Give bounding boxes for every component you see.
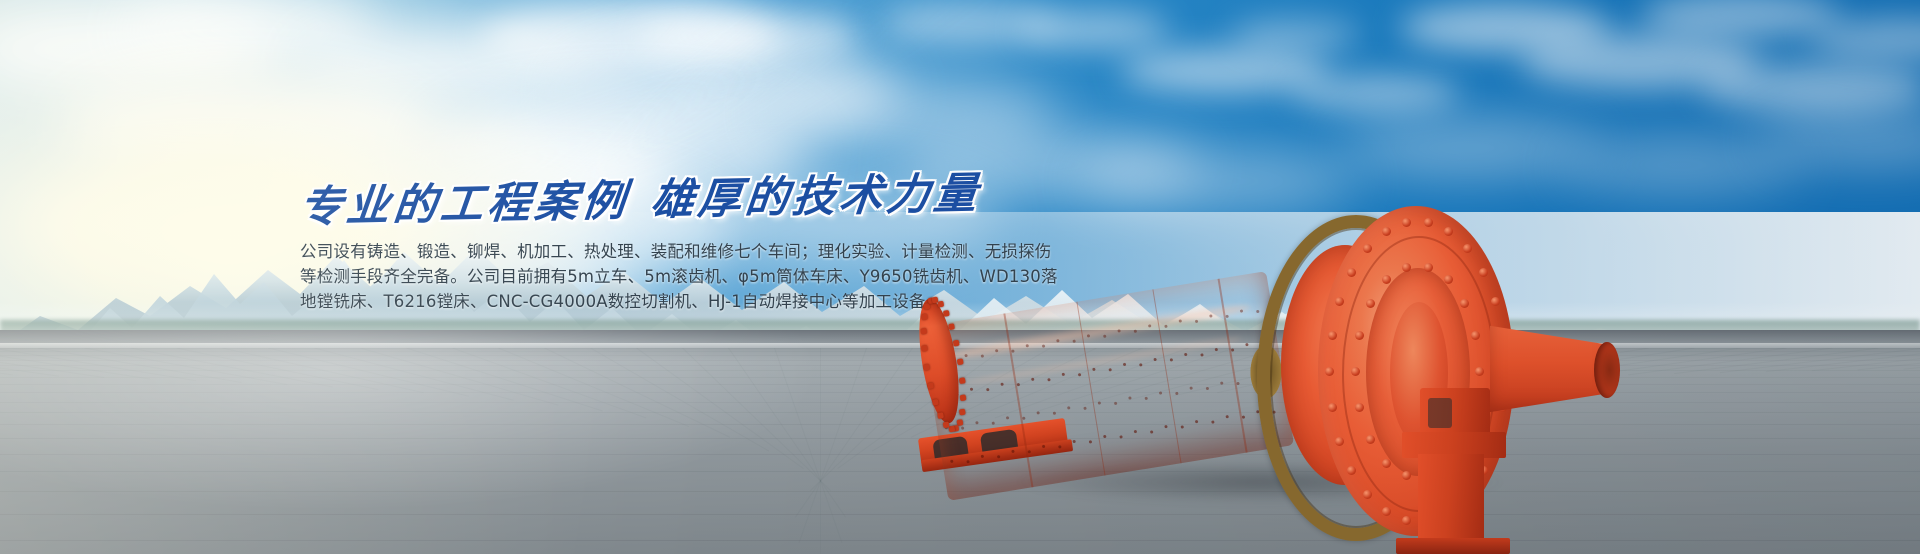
drum-rivet [1200, 353, 1204, 357]
drum-rivet [966, 460, 970, 464]
flange-bolt [932, 399, 939, 406]
drum-rivet [1128, 396, 1132, 400]
drum-rivet [1103, 435, 1107, 439]
drum-rivet [1153, 358, 1157, 362]
far-flange-bolts [907, 289, 973, 434]
flange-bolt [960, 394, 967, 401]
drum-rivet [996, 455, 1000, 459]
end-head-bolt-outer [1444, 227, 1453, 236]
tile-seam-vertical [820, 348, 821, 554]
drum-rivet [1134, 430, 1138, 434]
end-head-bolt-outer [1347, 268, 1356, 277]
flange-bolt [927, 382, 934, 389]
drum-rivet [1164, 425, 1168, 429]
drum-rivet [1052, 412, 1056, 416]
drum-rivet [1144, 397, 1148, 401]
drum-rivet [1083, 407, 1087, 411]
flange-bolt [943, 421, 950, 428]
drum-rivet [1194, 320, 1198, 324]
drum-rivet [950, 460, 954, 464]
drum-rivet [1011, 450, 1015, 454]
drum-rivet [1139, 363, 1143, 367]
tile-seam-vertical [590, 348, 769, 451]
drum-rivet [986, 388, 990, 392]
drum-rivet [1092, 368, 1096, 372]
drum-rivet [1088, 440, 1092, 444]
end-head-bolt-inner [1355, 403, 1364, 412]
drum-rivet [1058, 445, 1062, 449]
discharge-outlet [1594, 342, 1620, 398]
end-head-bolt-inner [1366, 435, 1375, 444]
drum-rivet [1123, 363, 1127, 367]
drum-rivets [920, 271, 1265, 327]
end-head-bolt-outer [1479, 268, 1488, 277]
drum-rivet [1195, 420, 1199, 424]
drum-rivet [1211, 420, 1215, 424]
drum-rivet [1006, 416, 1010, 420]
end-head-bolt-outer [1325, 367, 1334, 376]
drum-rivet [1215, 348, 1219, 352]
drum-rivet [1036, 411, 1040, 415]
end-head-bolt-inner [1475, 367, 1484, 376]
flange-bolt [923, 303, 930, 310]
end-head-bolt-inner [1471, 331, 1480, 340]
description-line-2: 等检测手段齐全完备。公司目前拥有5m立车、5m滚齿机、φ5m筒体车床、Y9650… [300, 264, 872, 289]
drum-rivet [1184, 353, 1188, 357]
cloud [1700, 62, 1920, 114]
end-head-bolt-inner [1366, 299, 1375, 308]
flange-bolt [923, 364, 930, 371]
drum-rivet [1189, 386, 1193, 390]
flange-bolt [959, 377, 966, 384]
flange-bolt [920, 328, 927, 335]
flange-bolt [953, 340, 960, 347]
flange-bolt [957, 358, 964, 365]
end-head-bolt-outer [1363, 244, 1372, 253]
drum-rivet [1000, 382, 1004, 386]
end-head-bolt-outer [1328, 403, 1337, 412]
drum-rivet [1047, 378, 1051, 382]
end-head-bolt-inner [1382, 459, 1391, 468]
drum-rivet [1113, 402, 1117, 406]
drum-rivet [1245, 343, 1249, 347]
drum-rivet [1062, 373, 1066, 377]
end-head-bolt-inner [1351, 367, 1360, 376]
end-head-bolt-outer [1424, 218, 1433, 227]
drum-rivet [1225, 415, 1229, 419]
end-head-bolt-outer [1335, 437, 1344, 446]
near-support-base [1392, 388, 1552, 554]
description-line-3: 地镗铣床、T6216镗床、CNC-CG4000A数控切割机、HJ-1自动焊接中心… [300, 289, 872, 314]
end-head-bolt-inner [1355, 331, 1364, 340]
end-head-bolt-outer [1328, 331, 1337, 340]
cloud [1230, 20, 1360, 50]
cloud [1290, 74, 1460, 112]
flange-bolt [948, 324, 955, 331]
end-head-bolt-inner [1402, 263, 1411, 272]
drum-rivet [981, 455, 985, 459]
end-head-bolt-inner [1424, 263, 1433, 272]
drum-rivet [1072, 440, 1076, 444]
tile-seam-vertical [636, 348, 804, 469]
flange-bolt [937, 301, 944, 308]
drum-rivet [1149, 430, 1153, 434]
drum-rivet [1077, 373, 1081, 377]
drum-rivet [1220, 381, 1224, 385]
end-head-bolt-outer [1382, 227, 1391, 236]
drum-rivet [980, 354, 984, 358]
flange-bolt [937, 412, 944, 419]
flange-bolt [921, 345, 928, 352]
drum-rivet [1205, 387, 1209, 391]
flange-bolt [943, 310, 950, 317]
flange-bolt [959, 408, 966, 415]
drum-rivet [1119, 435, 1123, 439]
description-line-1: 公司设有铸造、锻造、铆焊、机加工、热处理、装配和维修七个车间；理化实验、计量检测… [300, 239, 872, 264]
cloud [1020, 12, 1170, 48]
drum-rivet [1108, 368, 1112, 372]
drum-rivet [975, 421, 979, 425]
drum-rivet [1067, 406, 1071, 410]
headline-part-1: 专业的工程案例 [297, 178, 632, 232]
drum-rivet [991, 421, 995, 425]
drum-rivet [1159, 391, 1163, 395]
drum-rivet [1256, 310, 1260, 314]
flange-bolt [921, 314, 928, 321]
end-head-bolt-outer [1463, 244, 1472, 253]
end-head-bolt-outer [1382, 507, 1391, 516]
banner-description: 公司设有铸造、锻造、铆焊、机加工、热处理、装配和维修七个车间；理化实验、计量检测… [300, 239, 872, 314]
drum-rivet [1180, 425, 1184, 429]
drum-rivet [1098, 401, 1102, 405]
drum-rivet [1031, 378, 1035, 382]
ball-mill-machine [900, 120, 1920, 554]
drum-rivet [1175, 392, 1179, 396]
page-title: 专业的工程案例雄厚的技术力量 [297, 173, 963, 230]
drum-rivet [1169, 358, 1173, 362]
drum-rivet [1042, 445, 1046, 449]
drum-rivet [970, 387, 974, 391]
banner-copy: 专业的工程案例雄厚的技术力量 公司设有铸造、锻造、铆焊、机加工、热处理、装配和维… [300, 180, 960, 314]
hero-banner: 专业的工程案例雄厚的技术力量 公司设有铸造、锻造、铆焊、机加工、热处理、装配和维… [0, 0, 1920, 554]
